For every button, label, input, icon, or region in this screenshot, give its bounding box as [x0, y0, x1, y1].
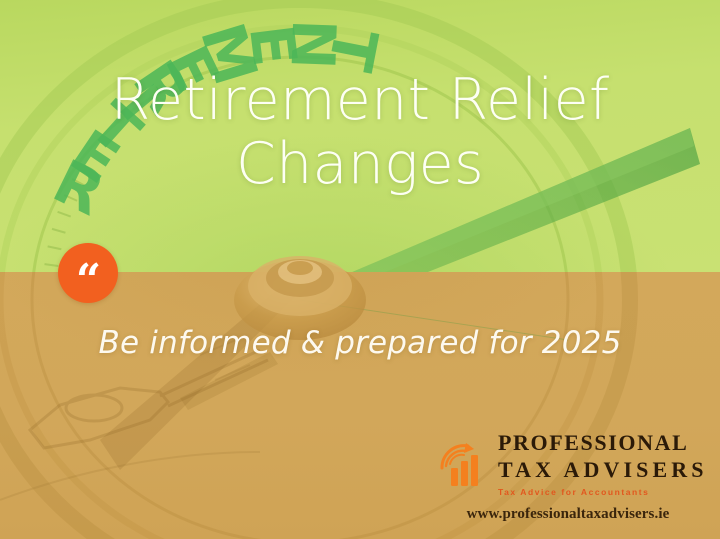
- quote-badge: “: [58, 243, 118, 303]
- website-url[interactable]: www.professionaltaxadvisers.ie: [428, 506, 708, 523]
- logo-wordmark: PROFESSIONAL TAX ADVISERS Tax Advice for…: [498, 432, 703, 497]
- banner-headline: Retirement Relief Changes: [0, 68, 720, 197]
- logo-name-line-1: PROFESSIONAL: [498, 432, 703, 454]
- quote-mark-icon: “: [58, 243, 118, 303]
- banner-subtitle: Be informed & prepared for 2025: [0, 325, 720, 361]
- promotional-banner: R E T I R E M E N T Retirement Relief Ch…: [0, 0, 720, 539]
- company-logo[interactable]: PROFESSIONAL TAX ADVISERS Tax Advice for…: [430, 430, 705, 530]
- logo-name-line-2: TAX ADVISERS: [498, 459, 703, 481]
- logo-tagline: Tax Advice for Accountants: [498, 487, 703, 497]
- bar-chart-swoosh-icon: [432, 434, 494, 496]
